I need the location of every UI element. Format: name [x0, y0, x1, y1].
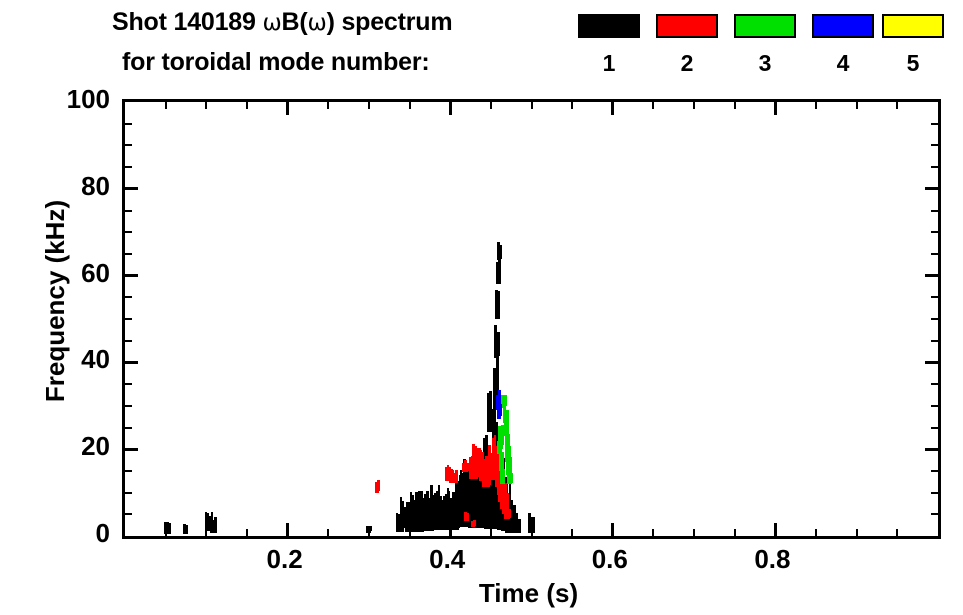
x-tick-0.15	[246, 529, 248, 536]
spectral-blob-n1-detail	[497, 332, 500, 356]
x-tick-top-0.05	[165, 102, 167, 109]
spectral-blob-n1-detail	[214, 517, 217, 532]
y-tick-right-60	[925, 274, 938, 277]
x-tick-top-0.45	[490, 102, 492, 109]
spectral-blob-n1-detail	[489, 391, 492, 431]
y-tick-5	[125, 513, 132, 515]
y-tick-right-95	[931, 123, 938, 125]
y-tick-right-80	[925, 187, 938, 190]
title-suffix: ) spectrum	[327, 8, 453, 36]
x-tick-top-0.8	[774, 102, 777, 115]
x-tick-top-0.7	[693, 102, 695, 109]
y-tick-right-35	[931, 383, 938, 385]
legend-entry-4[interactable]: 4	[812, 14, 874, 75]
x-axis-title: Time (s)	[122, 580, 935, 606]
y-tick-55	[125, 296, 132, 298]
y-tick-right-40	[925, 361, 938, 364]
y-tick-30	[125, 405, 132, 407]
x-tick-0.95	[896, 529, 898, 536]
y-tick-50	[125, 318, 132, 320]
y-tick-40	[125, 361, 138, 364]
spectral-blob-n3-detail	[504, 395, 507, 406]
spectral-blob-n3-detail	[502, 469, 505, 480]
spectral-blob-n4-detail	[499, 404, 502, 417]
x-tick-0.35	[409, 529, 411, 536]
legend-entry-3[interactable]: 3	[734, 14, 796, 75]
y-tick-65	[125, 253, 132, 255]
x-tick-top-0.9	[856, 102, 858, 109]
y-tick-right-10	[931, 492, 938, 494]
y-tick-label-20: 20	[81, 433, 110, 459]
legend-label-2: 2	[656, 52, 718, 75]
spectral-blob-n2-detail	[466, 513, 469, 520]
y-tick-right-85	[931, 166, 938, 168]
spectral-blob-n1-detail	[168, 523, 171, 533]
x-tick-top-0.5	[531, 102, 533, 109]
plot-frame	[122, 99, 941, 539]
y-tick-10	[125, 492, 132, 494]
x-tick-0.45	[490, 529, 492, 536]
y-tick-right-20	[925, 448, 938, 451]
x-tick-top-0.3	[368, 102, 370, 109]
y-tick-right-5	[931, 513, 938, 515]
y-tick-90	[125, 144, 132, 146]
y-tick-15	[125, 470, 132, 472]
title-mid: B(	[282, 8, 308, 36]
y-tick-right-75	[931, 210, 938, 212]
x-tick-label-0.6: 0.6	[592, 546, 628, 572]
y-tick-right-45	[931, 340, 938, 342]
spectral-blob-n2-detail	[377, 480, 380, 491]
y-tick-25	[125, 427, 132, 429]
y-tick-70	[125, 231, 132, 233]
y-tick-label-100: 100	[67, 86, 110, 112]
x-tick-0.3	[368, 529, 370, 536]
x-tick-top-0.25	[327, 102, 329, 109]
legend-entry-2[interactable]: 2	[656, 14, 718, 75]
y-tick-60	[125, 274, 138, 277]
x-tick-0.25	[327, 529, 329, 536]
x-tick-0.9	[856, 529, 858, 536]
y-tick-20	[125, 448, 138, 451]
legend-label-1: 1	[578, 52, 640, 75]
legend: 12345	[578, 14, 944, 84]
legend-label-4: 4	[812, 52, 874, 75]
x-tick-top-0.85	[815, 102, 817, 109]
y-tick-label-60: 60	[81, 260, 110, 286]
plot-data-area	[125, 102, 938, 536]
spectral-blob-n1-detail	[533, 517, 536, 529]
x-tick-top-0.35	[409, 102, 411, 109]
x-tick-top-0.55	[571, 102, 573, 109]
x-tick-top-0.1	[205, 102, 207, 109]
y-tick-85	[125, 166, 132, 168]
spectral-blob-n3-detail	[510, 473, 513, 484]
spectrogram-figure: Shot 140189 ωB(ω) spectrum for toroidal …	[0, 0, 963, 615]
x-tick-0.2	[286, 523, 289, 536]
x-tick-0.4	[449, 523, 452, 536]
legend-swatch-5	[882, 14, 944, 38]
x-tick-top-0.4	[449, 102, 452, 115]
x-tick-0.8	[774, 523, 777, 536]
y-tick-label-40: 40	[81, 346, 110, 372]
spectral-blob-n1-detail	[497, 291, 500, 317]
legend-swatch-4	[812, 14, 874, 38]
x-tick-0.05	[165, 529, 167, 536]
y-tick-right-55	[931, 296, 938, 298]
x-tick-0.65	[652, 529, 654, 536]
y-tick-right-70	[931, 231, 938, 233]
x-tick-top-0.2	[286, 102, 289, 115]
spectral-blob-n1-detail	[518, 519, 521, 533]
x-tick-0.7	[693, 529, 695, 536]
omega-symbol-2: ω	[308, 10, 327, 36]
y-tick-75	[125, 210, 132, 212]
y-tick-right-30	[931, 405, 938, 407]
y-tick-80	[125, 187, 138, 190]
x-tick-0.5	[531, 529, 533, 536]
y-tick-35	[125, 383, 132, 385]
x-tick-top-0.75	[734, 102, 736, 109]
legend-entry-5[interactable]: 5	[882, 14, 944, 75]
legend-entry-1[interactable]: 1	[578, 14, 640, 75]
y-tick-right-15	[931, 470, 938, 472]
y-tick-right-90	[931, 144, 938, 146]
y-tick-45	[125, 340, 132, 342]
y-tick-right-65	[931, 253, 938, 255]
spectral-blob-n2-detail	[455, 470, 458, 483]
legend-swatch-2	[656, 14, 718, 38]
spectral-blob-n1-detail	[185, 525, 188, 532]
x-tick-0.1	[205, 529, 207, 536]
spectral-blob-n1-detail	[498, 259, 501, 284]
x-tick-top-0.95	[896, 102, 898, 109]
x-tick-label-0.4: 0.4	[429, 546, 465, 572]
spectral-blob-n2-detail	[508, 509, 511, 519]
x-tick-label-0.2: 0.2	[267, 546, 303, 572]
y-tick-right-50	[931, 318, 938, 320]
x-axis-tick-labels: 0.20.40.60.8	[122, 546, 935, 580]
y-axis-title: Frequency (kHz)	[42, 84, 68, 518]
title-prefix: Shot 140189	[112, 8, 262, 36]
x-tick-top-0.65	[652, 102, 654, 109]
x-tick-top-0.6	[611, 102, 614, 115]
omega-symbol-1: ω	[262, 10, 281, 36]
legend-label-3: 3	[734, 52, 796, 75]
legend-label-5: 5	[882, 52, 944, 75]
legend-swatch-3	[734, 14, 796, 38]
figure-title-line-1: Shot 140189 ωB(ω) spectrum	[112, 8, 452, 37]
spectral-blob-n2-detail	[473, 520, 476, 525]
x-tick-0.55	[571, 529, 573, 536]
figure-title-line-2: for toroidal mode number:	[122, 48, 430, 77]
spectral-blob-n1-detail	[499, 245, 502, 259]
x-tick-top-0.15	[246, 102, 248, 109]
x-tick-label-0.8: 0.8	[754, 546, 790, 572]
spectral-blob-n3-detail	[499, 441, 502, 452]
y-tick-label-0: 0	[96, 520, 110, 546]
y-tick-label-80: 80	[81, 173, 110, 199]
legend-swatch-1	[578, 14, 640, 38]
x-tick-0.85	[815, 529, 817, 536]
y-tick-right-25	[931, 427, 938, 429]
x-tick-0.75	[734, 529, 736, 536]
y-tick-95	[125, 123, 132, 125]
x-tick-0.6	[611, 523, 614, 536]
